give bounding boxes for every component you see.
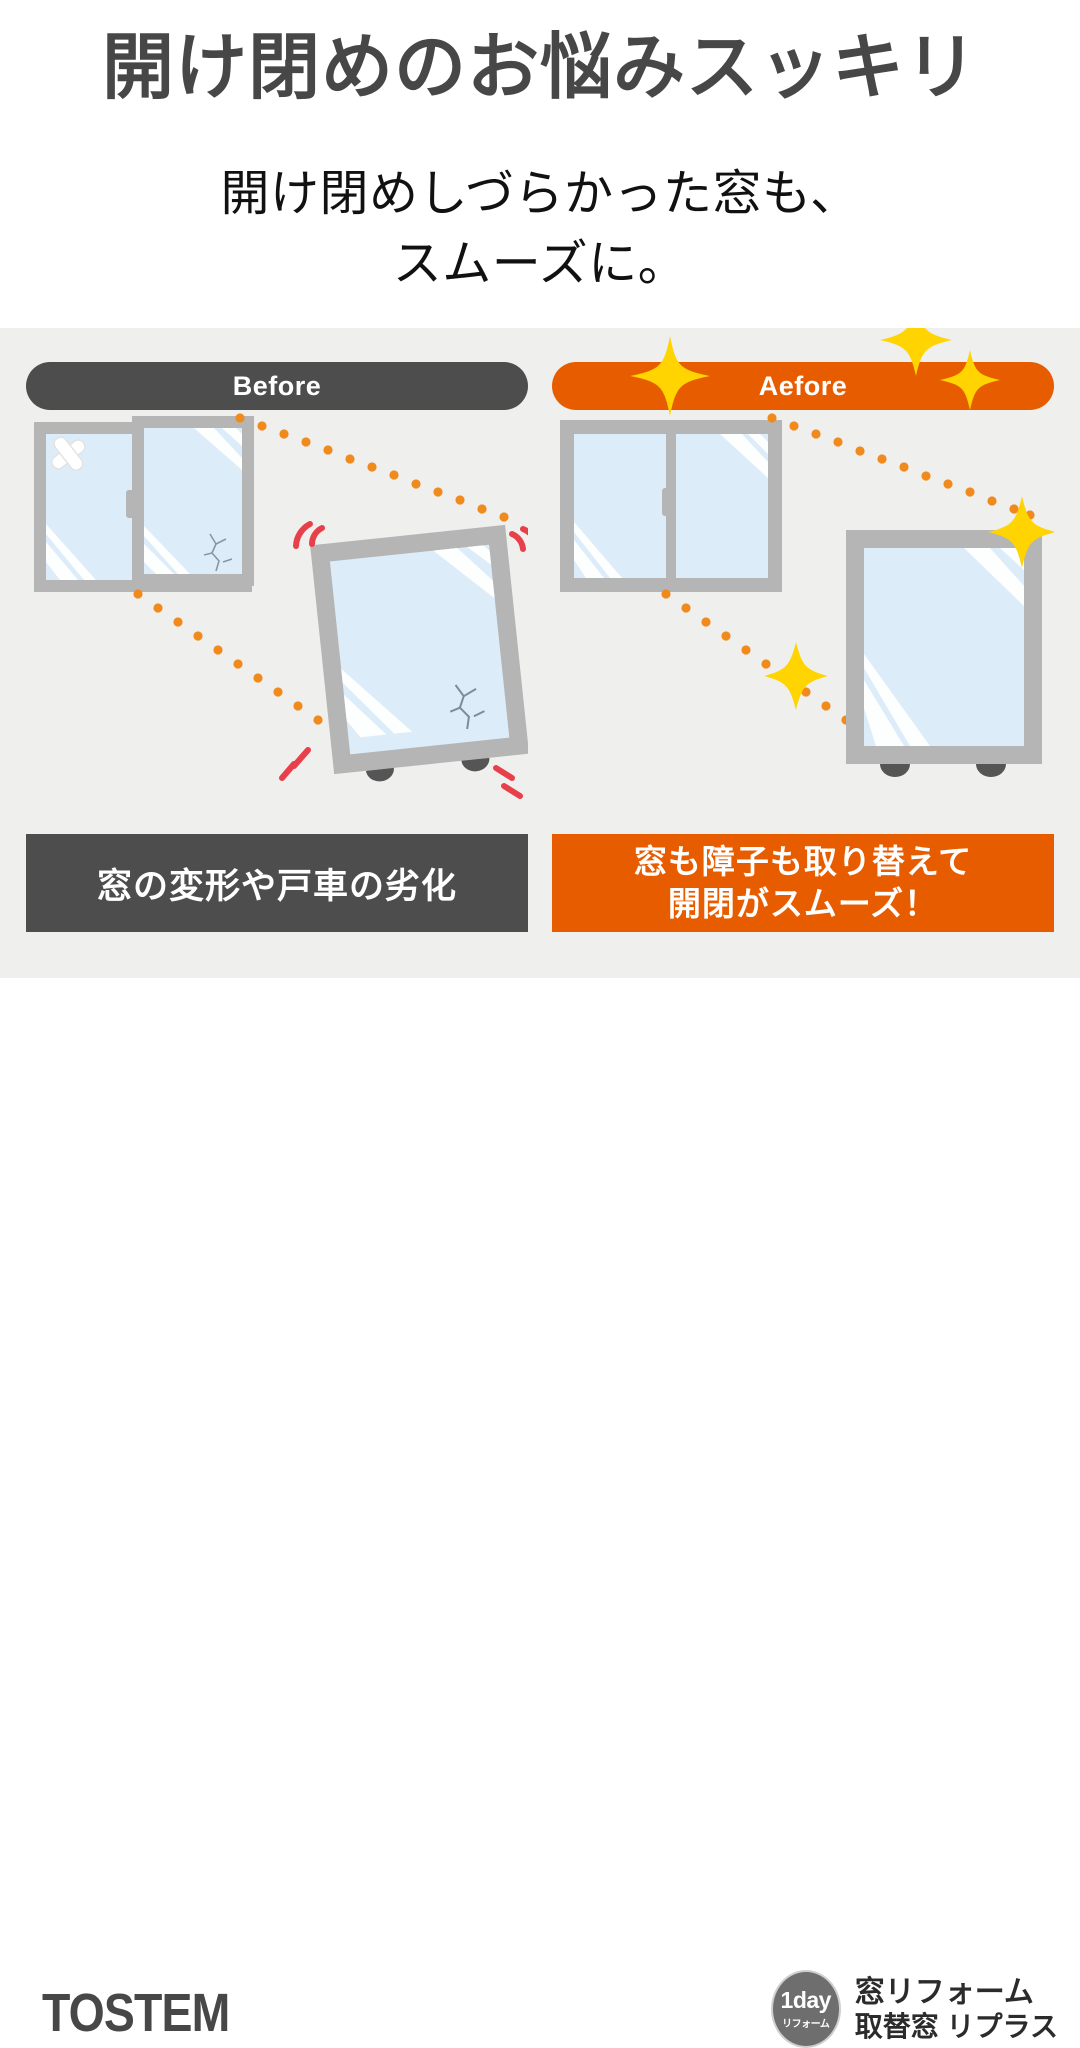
brand-line-2: 取替窓 リプラス <box>855 2010 1058 2043</box>
after-caption-line-1: 窓も障子も取り替えて <box>634 841 972 883</box>
brand-lockup: 1day リフォーム 窓リフォーム 取替窓 リプラス <box>771 1970 1058 2048</box>
after-pill-label: Aefore <box>759 371 848 402</box>
one-day-badge-icon: 1day リフォーム <box>771 1970 841 2048</box>
before-caption-text: 窓の変形や戸車の劣化 <box>97 858 457 909</box>
brand-text: 窓リフォーム 取替窓 リプラス <box>855 1975 1058 2043</box>
comparison-panel: Before <box>0 328 1080 978</box>
before-illustration <box>26 412 528 827</box>
badge-sub-label: リフォーム <box>782 2015 829 2030</box>
after-caption: 窓も障子も取り替えて 開閉がスムーズ！ <box>552 834 1054 932</box>
after-caption-line-2: 開閉がスムーズ！ <box>634 883 972 925</box>
badge-main-label: 1day <box>781 1989 831 2012</box>
subtitle-line-1: 開け閉めしづらかった窓も、 <box>0 160 1080 230</box>
before-pill-label: Before <box>233 371 322 402</box>
after-pill: Aefore <box>552 362 1054 410</box>
guide-dots-top <box>767 413 1034 519</box>
footer: TOSTEM 1day リフォーム 窓リフォーム 取替窓 リプラス <box>0 978 1080 1080</box>
before-column: Before <box>26 328 528 978</box>
brand-line-1: 窓リフォーム <box>855 1975 1058 2010</box>
guide-dots-top <box>235 413 508 521</box>
warped-sash <box>310 525 528 786</box>
page-subtitle: 開け閉めしづらかった窓も、 スムーズに。 <box>0 160 1080 299</box>
poster-root: 開け閉めのお悩みスッキリ 開け閉めしづらかった窓も、 スムーズに。 Before <box>0 0 1080 1080</box>
page-title: 開け閉めのお悩みスッキリ <box>0 26 1080 111</box>
new-sash <box>846 530 1042 777</box>
before-pill: Before <box>26 362 528 410</box>
after-column: Aefore <box>552 328 1054 978</box>
subtitle-line-2: スムーズに。 <box>0 230 1080 300</box>
after-illustration <box>552 412 1054 827</box>
before-caption: 窓の変形や戸車の劣化 <box>26 834 528 932</box>
tostem-logo: TOSTEM <box>42 1982 229 2044</box>
